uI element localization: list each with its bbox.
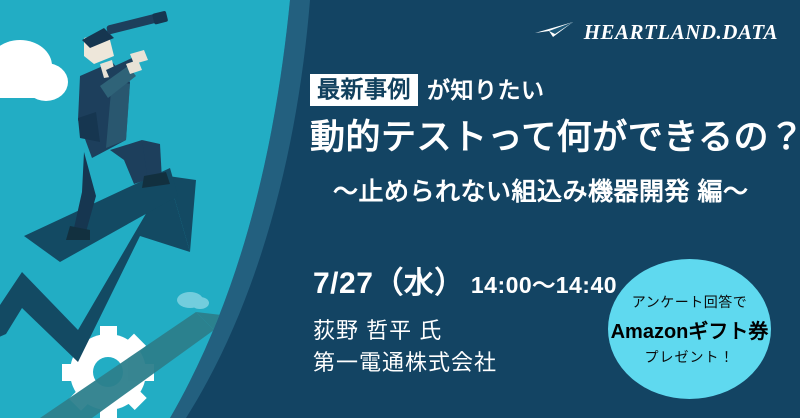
amazon-gift-badge: アンケート回答で Amazonギフト券 プレゼント！ — [608, 259, 771, 399]
event-datetime: 7/27（水） 14:00〜14:40 — [313, 258, 617, 302]
badge-line-1: アンケート回答で — [632, 292, 747, 312]
kicker-line: 最新事例 が知りたい — [310, 74, 545, 106]
event-date: 7/27（水） — [313, 258, 465, 302]
speaker-company: 第一電通株式会社 — [313, 347, 497, 379]
kicker-badge: 最新事例 — [310, 74, 418, 106]
kicker-tail: が知りたい — [427, 79, 545, 102]
subheadline: 〜止められない組込み機器開発 編〜 — [333, 177, 748, 207]
hero-illustration — [0, 0, 330, 418]
webinar-banner: HEARTLAND.DATA 最新事例 が知りたい 動的テストって何ができるの？… — [0, 0, 800, 418]
badge-line-3: プレゼント！ — [645, 347, 735, 367]
badge-line-2: Amazonギフト券 — [611, 315, 769, 344]
speaker-name: 荻野 哲平 氏 — [313, 315, 497, 347]
illustration-scene — [0, 0, 330, 418]
event-time: 14:00〜14:40 — [471, 266, 617, 300]
speaker-block: 荻野 哲平 氏 第一電通株式会社 — [313, 315, 497, 379]
headline: 動的テストって何ができるの？ — [310, 118, 800, 158]
